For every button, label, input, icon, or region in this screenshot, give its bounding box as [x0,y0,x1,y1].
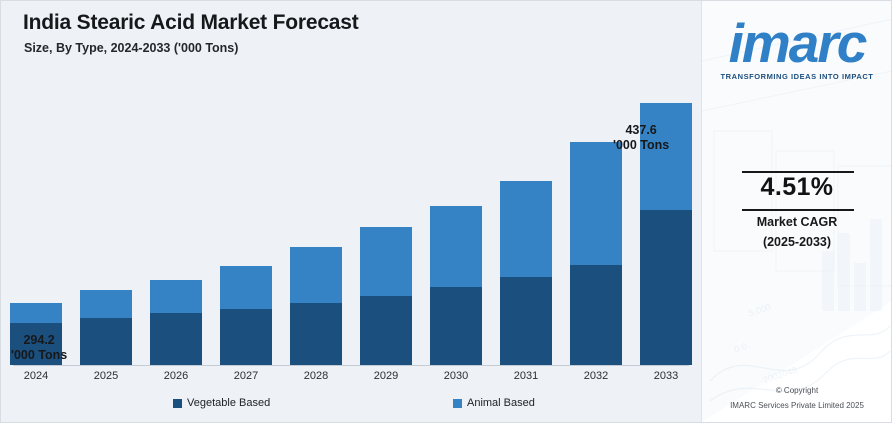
company-text: IMARC Services Private Limited 2025 [702,401,891,410]
last-value-number: 437.6 [613,123,669,138]
first-value-unit: '000 Tons [11,348,67,363]
bar-segment-animal[interactable] [570,142,622,265]
stacked-bar[interactable] [570,142,622,365]
legend-swatch-icon-vegetable [173,399,182,408]
cagr-label: Market CAGR [702,215,891,229]
cagr-value: 4.51% [702,173,891,202]
legend-item-vegetable: Vegetable Based [173,397,270,409]
bar-segment-animal[interactable] [500,181,552,277]
chart-panel: India Stearic Acid Market Forecast Size,… [1,1,701,422]
first-value-annotation: 294.2 '000 Tons [11,333,67,363]
bar-slot [561,63,631,365]
bar-segment-animal[interactable] [220,266,272,309]
x-axis-tick-label: 2033 [631,370,701,390]
bar-slot [351,63,421,365]
bar-group [1,63,701,365]
chart-legend: Vegetable Based Animal Based [1,397,701,417]
x-axis-tick-label: 2025 [71,370,141,390]
chart-subtitle: Size, By Type, 2024-2033 ('000 Tons) [24,41,238,55]
stacked-bar[interactable] [500,181,552,365]
x-axis-tick-label: 2031 [491,370,561,390]
bar-segment-animal[interactable] [360,227,412,296]
bar-segment-vegetable[interactable] [220,309,272,365]
logo-tagline: TRANSFORMING IDEAS INTO IMPACT [702,72,891,81]
legend-label-animal: Animal Based [467,397,535,409]
stacked-bar[interactable] [80,290,132,365]
last-value-annotation: 437.6 '000 Tons [613,123,669,153]
bar-segment-vegetable[interactable] [640,210,692,365]
x-axis-tick-label: 2030 [421,370,491,390]
page-title: India Stearic Acid Market Forecast [23,11,359,35]
bar-segment-vegetable[interactable] [570,265,622,365]
bar-segment-vegetable[interactable] [150,313,202,365]
bar-slot [631,63,701,365]
bar-slot [281,63,351,365]
bar-segment-animal[interactable] [80,290,132,318]
legend-swatch-icon-animal [453,399,462,408]
x-axis-tick-label: 2029 [351,370,421,390]
bar-segment-vegetable[interactable] [500,277,552,365]
stacked-bar[interactable] [360,227,412,365]
bar-segment-vegetable[interactable] [360,296,412,365]
bar-segment-animal[interactable] [10,303,62,323]
imarc-logo: imarc TRANSFORMING IDEAS INTO IMPACT [702,15,891,81]
bar-slot [71,63,141,365]
x-axis-labels: 2024202520262027202820292030203120322033 [1,370,701,390]
x-axis-tick-label: 2026 [141,370,211,390]
copyright-text: © Copyright [702,386,891,395]
first-value-number: 294.2 [11,333,67,348]
bar-slot [491,63,561,365]
bar-slot [211,63,281,365]
stacked-bar[interactable] [290,247,342,365]
logo-wordmark: imarc [702,15,891,71]
cagr-period: (2025-2033) [702,235,891,249]
x-axis-tick-label: 2024 [1,370,71,390]
bar-segment-animal[interactable] [640,103,692,210]
chart-page: India Stearic Acid Market Forecast Size,… [0,0,892,423]
x-axis-tick-label: 2027 [211,370,281,390]
legend-label-vegetable: Vegetable Based [187,397,270,409]
stacked-bar[interactable] [430,206,482,365]
stacked-bar[interactable] [220,266,272,365]
brand-panel: 5,000 0.0 2002048 imarc TRANSFORMING IDE… [701,1,891,422]
bar-segment-animal[interactable] [430,206,482,287]
bar-slot [141,63,211,365]
bar-segment-animal[interactable] [150,280,202,313]
stacked-bar[interactable] [150,280,202,365]
last-value-unit: '000 Tons [613,138,669,153]
x-axis-tick-label: 2028 [281,370,351,390]
bar-segment-vegetable[interactable] [80,318,132,365]
x-axis-tick-label: 2032 [561,370,631,390]
plot-area: 294.2 '000 Tons 437.6 '000 Tons [1,63,701,365]
bar-segment-vegetable[interactable] [430,287,482,365]
bar-slot [1,63,71,365]
bar-segment-vegetable[interactable] [290,303,342,365]
bar-slot [421,63,491,365]
legend-item-animal: Animal Based [453,397,535,409]
bar-segment-animal[interactable] [290,247,342,303]
cagr-rule-bottom [742,209,854,211]
x-axis-line [13,365,689,366]
